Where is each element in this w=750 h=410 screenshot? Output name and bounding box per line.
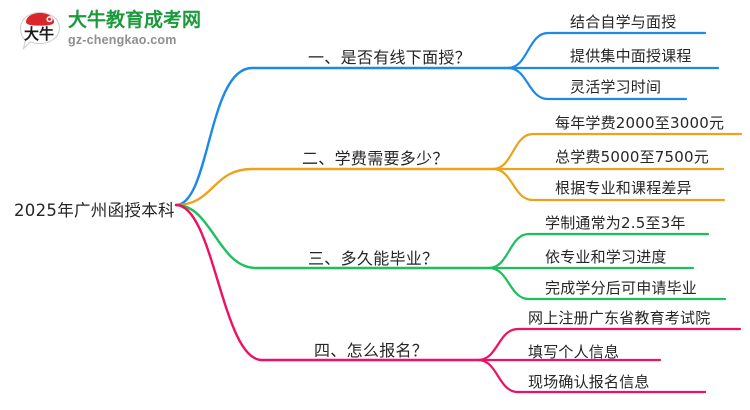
leaf-node-3-3[interactable]: 完成学分后可申请毕业 (545, 277, 697, 298)
branch-1-trunk (176, 68, 508, 205)
branch-node-4[interactable]: 四、怎么报名？ (314, 337, 428, 361)
mindmap-root-node[interactable]: 2025年广州函授本科 (14, 197, 175, 221)
leaf-node-2-1[interactable]: 每年学费2000至3000元 (555, 112, 724, 133)
branch-node-3[interactable]: 三、多久能毕业？ (308, 245, 438, 269)
branch-node-1[interactable]: 一、是否有线下面授？ (308, 44, 471, 68)
leaf-node-1-3[interactable]: 灵活学习时间 (570, 76, 661, 97)
leaf-node-2-3[interactable]: 根据专业和课程差异 (555, 177, 692, 198)
leaf-node-2-2[interactable]: 总学费5000至7500元 (555, 146, 709, 167)
leaf-node-3-1[interactable]: 学制通常为2.5至3年 (545, 212, 686, 233)
mindmap-canvas: 大牛 大牛教育成考网 gz-chengkao.com (0, 0, 750, 410)
branch-node-2[interactable]: 二、学费需要多少？ (302, 145, 449, 169)
leaf-node-4-1[interactable]: 网上注册广东省教育考试院 (528, 307, 710, 328)
leaf-node-3-2[interactable]: 依专业和学习进度 (545, 246, 667, 267)
leaf-node-4-2[interactable]: 填写个人信息 (528, 341, 619, 362)
leaf-node-4-3[interactable]: 现场确认报名信息 (528, 371, 650, 392)
branch-2-trunk (176, 169, 493, 205)
leaf-node-1-2[interactable]: 提供集中面授课程 (570, 45, 692, 66)
leaf-node-1-1[interactable]: 结合自学与面授 (570, 11, 676, 32)
